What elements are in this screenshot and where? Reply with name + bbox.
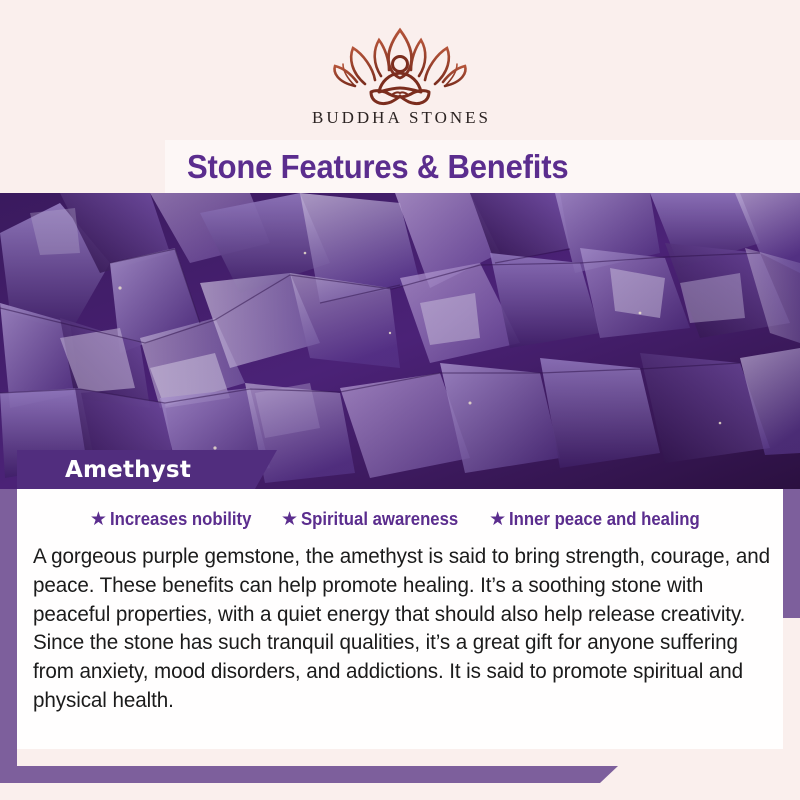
crystal-texture [0,193,800,489]
brand-name: BUDDHA STONES [309,108,491,128]
amethyst-crystal-cluster-photo [0,193,800,489]
page-title: Stone Features & Benefits [187,148,568,186]
star-icon: ★ [489,510,506,529]
stone-name-banner: Amethyst [17,450,277,489]
feature-label: Increases nobility [110,509,251,530]
star-icon: ★ [90,510,107,529]
promo-card: BUDDHA STONES Stone Features & Benefits [0,0,800,800]
page-title-band: Stone Features & Benefits [165,140,800,193]
stone-name: Amethyst [65,457,191,483]
brand-header: BUDDHA STONES [0,0,800,140]
feature-item-3: ★ Inner peace and healing [489,509,714,530]
feature-label: Spiritual awareness [301,509,458,530]
stone-info-card: ★ Increases nobility ★ Spiritual awarene… [17,489,783,749]
frame-band-left [0,489,17,783]
star-icon: ★ [281,510,298,529]
frame-band-bottom [0,766,618,783]
feature-item-1: ★ Increases nobility [90,509,262,530]
brand-logo: BUDDHA STONES [0,24,800,128]
feature-item-2: ★ Spiritual awareness [281,509,470,530]
lotus-meditation-figure-icon [325,24,475,106]
feature-label: Inner peace and healing [509,509,700,530]
stone-description: A gorgeous purple gemstone, the amethyst… [33,542,780,715]
feature-list: ★ Increases nobility ★ Spiritual awarene… [17,489,783,530]
